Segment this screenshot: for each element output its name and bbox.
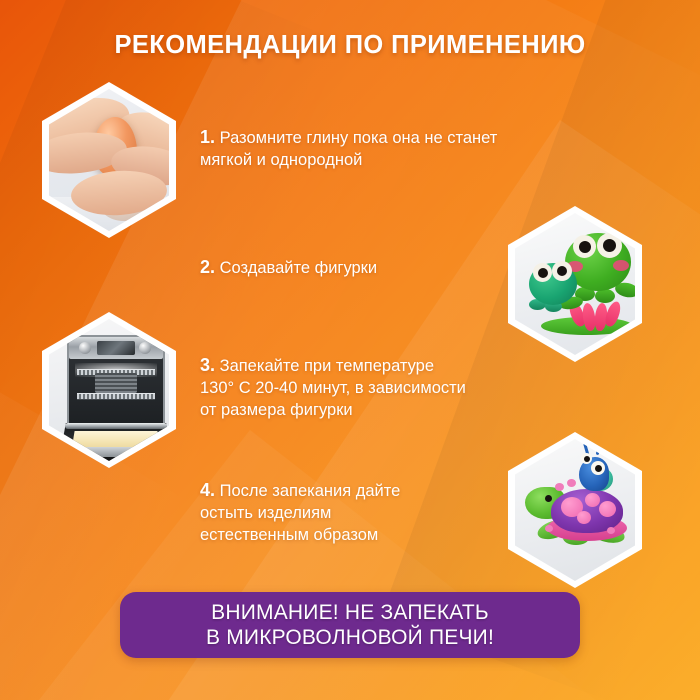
step-text-line-1: После запекания дайте bbox=[220, 482, 401, 500]
oven-display bbox=[97, 341, 135, 355]
snail-antenna bbox=[596, 441, 601, 455]
warning-text: ВНИМАНИЕ! НЕ ЗАПЕКАТЬ В МИКРОВОЛНОВОЙ ПЕ… bbox=[206, 600, 494, 650]
step-number: 2. bbox=[200, 257, 215, 277]
oven-knob bbox=[139, 342, 151, 354]
step-item-4: 4. После запекания дайте остыть изделиям… bbox=[200, 479, 530, 547]
step-text-line-1: Создавайте фигурки bbox=[220, 259, 378, 277]
oven-illustration bbox=[49, 319, 169, 461]
hex-photo-green-octopus-figures bbox=[508, 206, 642, 362]
octopus-pupil bbox=[538, 268, 548, 278]
snail-pupil bbox=[595, 465, 602, 472]
hex-photo-frame bbox=[515, 213, 635, 355]
step-item-3: 3. Запекайте при температуре 130° С 20-4… bbox=[200, 354, 620, 422]
snail-pupil bbox=[584, 456, 590, 462]
step-item-2: 2. Создавайте фигурки bbox=[200, 256, 520, 280]
hex-photo-oven bbox=[42, 312, 176, 468]
warning-line-1: ВНИМАНИЕ! НЕ ЗАПЕКАТЬ bbox=[211, 601, 489, 624]
cheek-blush bbox=[613, 260, 629, 271]
hex-photo-frame bbox=[49, 89, 169, 231]
warning-line-2: В МИКРОВОЛНОВОЙ ПЕЧИ! bbox=[206, 626, 494, 649]
shell-spot bbox=[577, 511, 591, 524]
step-number: 3. bbox=[200, 355, 215, 375]
page-title: РЕКОМЕНДАЦИИ ПО ПРИМЕНЕНИЮ bbox=[0, 31, 700, 60]
hex-photo-frame bbox=[515, 439, 635, 581]
step-text-line-3: естественным образом bbox=[200, 526, 378, 544]
octopus-pupil bbox=[579, 241, 591, 253]
shell-bump bbox=[607, 527, 615, 534]
shell-bump bbox=[567, 479, 576, 487]
hands-kneading-clay-illustration bbox=[49, 89, 169, 231]
octopus-pupil bbox=[603, 239, 616, 252]
warning-banner: ВНИМАНИЕ! НЕ ЗАПЕКАТЬ В МИКРОВОЛНОВОЙ ПЕ… bbox=[120, 592, 580, 658]
shell-bump bbox=[545, 525, 553, 532]
octopus-leg bbox=[595, 289, 615, 303]
step-number: 4. bbox=[200, 480, 215, 500]
oven-tray bbox=[95, 373, 137, 393]
shell-spot bbox=[585, 493, 600, 507]
step-text-line-1: Разомните глину пока она не станет bbox=[220, 129, 498, 147]
step-text-line-3: от размера фигурки bbox=[200, 401, 353, 419]
turtle-eye bbox=[545, 495, 552, 502]
step-text-line-1: Запекайте при температуре bbox=[220, 357, 434, 375]
shell-spot bbox=[599, 501, 616, 517]
recommendations-poster: РЕКОМЕНДАЦИИ ПО ПРИМЕНЕНИЮ bbox=[0, 0, 700, 700]
step-text-line-2: остыть изделиям bbox=[200, 504, 331, 522]
turtle-figure-illustration bbox=[515, 439, 635, 581]
oven-base bbox=[57, 447, 169, 457]
step-text-line-2: мягкой и однородной bbox=[200, 151, 362, 169]
hex-photo-frame bbox=[49, 319, 169, 461]
octopus-pupil bbox=[557, 266, 567, 276]
step-item-1: 1. Разомните глину пока она не станет мя… bbox=[200, 126, 620, 172]
hex-photo-hands-kneading-clay bbox=[42, 82, 176, 238]
step-number: 1. bbox=[200, 127, 215, 147]
oven-knob bbox=[79, 342, 91, 354]
oven-handle bbox=[65, 423, 167, 429]
shell-bump bbox=[555, 483, 564, 491]
octopus-figures-illustration bbox=[515, 213, 635, 355]
oven-rack bbox=[77, 393, 155, 400]
step-text-line-2: 130° С 20-40 минут, в зависимости bbox=[200, 379, 466, 397]
